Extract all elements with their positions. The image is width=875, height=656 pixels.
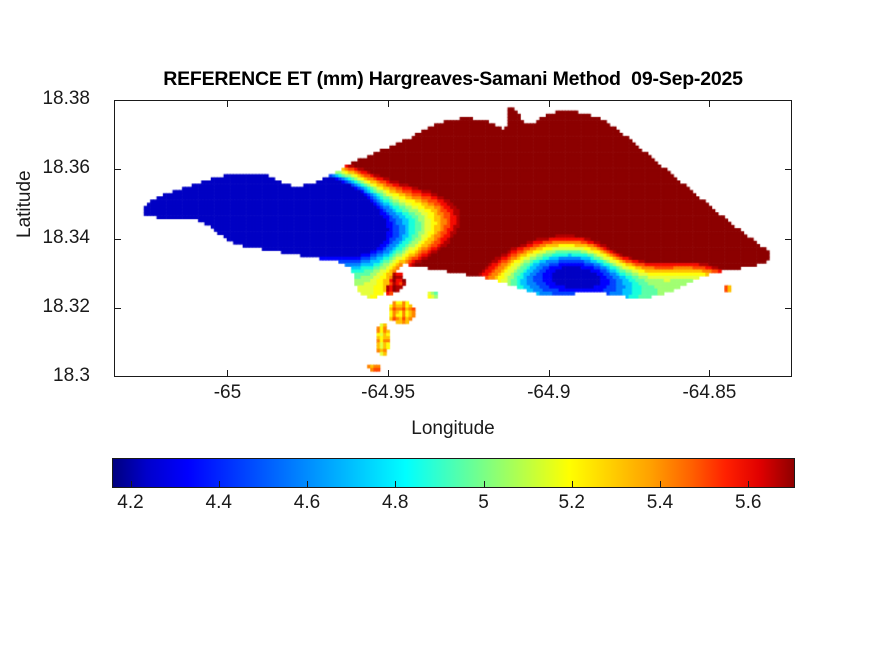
- x-axis-title: Longitude: [114, 418, 792, 440]
- y-tick-label: 18.32: [42, 296, 90, 318]
- matlab-figure: REFERENCE ET (mm) Hargreaves-Samani Meth…: [0, 0, 875, 656]
- x-tick-label: -64.85: [682, 382, 736, 404]
- x-tick-mark: [709, 370, 710, 377]
- colorbar-tick-label: 5.6: [735, 492, 761, 514]
- colorbar-tick-label: 5.2: [559, 492, 585, 514]
- colorbar-gradient: [112, 458, 795, 488]
- colorbar-tick-label: 4.6: [294, 492, 320, 514]
- x-tick-label: -64.95: [361, 382, 415, 404]
- y-tick-mark: [114, 239, 121, 240]
- colorbar-tick-label: 5: [478, 492, 489, 514]
- x-tick-mark: [549, 100, 550, 107]
- reference-et-heatmap: [115, 101, 791, 376]
- y-tick-mark: [114, 308, 121, 309]
- colorbar: [112, 458, 795, 488]
- x-tick-mark: [227, 100, 228, 107]
- x-tick-mark: [549, 370, 550, 377]
- x-tick-label: -65: [214, 382, 241, 404]
- y-tick-mark: [785, 169, 792, 170]
- y-axis-title: Latitude: [14, 170, 36, 238]
- colorbar-tick-mark: [307, 481, 308, 488]
- colorbar-tick-mark: [748, 481, 749, 488]
- colorbar-tick-mark: [660, 481, 661, 488]
- y-tick-mark: [785, 308, 792, 309]
- colorbar-tick-mark: [131, 481, 132, 488]
- x-tick-label: -64.9: [527, 382, 570, 404]
- y-tick-mark: [114, 169, 121, 170]
- x-tick-mark: [388, 370, 389, 377]
- colorbar-tick-label: 4.2: [117, 492, 143, 514]
- y-tick-label: 18.36: [42, 157, 90, 179]
- page-title: REFERENCE ET (mm) Hargreaves-Samani Meth…: [114, 68, 792, 91]
- colorbar-tick-mark: [484, 481, 485, 488]
- colorbar-tick-label: 5.4: [647, 492, 673, 514]
- x-tick-mark: [709, 100, 710, 107]
- y-tick-label: 18.3: [53, 365, 90, 387]
- colorbar-tick-mark: [395, 481, 396, 488]
- x-tick-mark: [227, 370, 228, 377]
- colorbar-tick-label: 4.8: [382, 492, 408, 514]
- colorbar-tick-label: 4.4: [206, 492, 232, 514]
- colorbar-tick-mark: [572, 481, 573, 488]
- y-tick-label: 18.38: [42, 88, 90, 110]
- map-axes: [114, 100, 792, 377]
- colorbar-tick-mark: [219, 481, 220, 488]
- y-tick-label: 18.34: [42, 227, 90, 249]
- y-tick-mark: [785, 239, 792, 240]
- x-tick-mark: [388, 100, 389, 107]
